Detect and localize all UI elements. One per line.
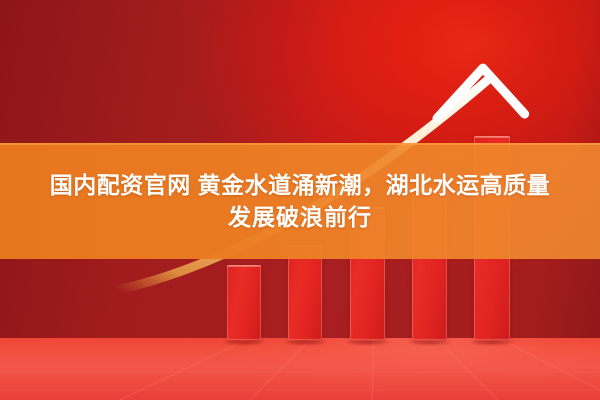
bar-1-shadow [221,339,267,346]
bar-2-shadow [282,339,328,346]
bar-4-shadow [406,339,453,346]
bar-5-shadow [468,339,516,346]
headline-line-2: 发展破浪前行 [228,202,372,232]
chart-bar-1 [227,265,261,340]
chart-bar-2 [288,245,322,340]
headline-line-1: 国内配资官网 黄金水道涌新潮，湖北水运高质量 [50,170,550,200]
promo-banner-image: 国内配资官网 黄金水道涌新潮，湖北水运高质量 发展破浪前行 [0,0,600,400]
headline-text-block: 国内配资官网 黄金水道涌新潮，湖北水运高质量 发展破浪前行 [0,143,600,259]
bar-3-shadow [344,339,391,346]
